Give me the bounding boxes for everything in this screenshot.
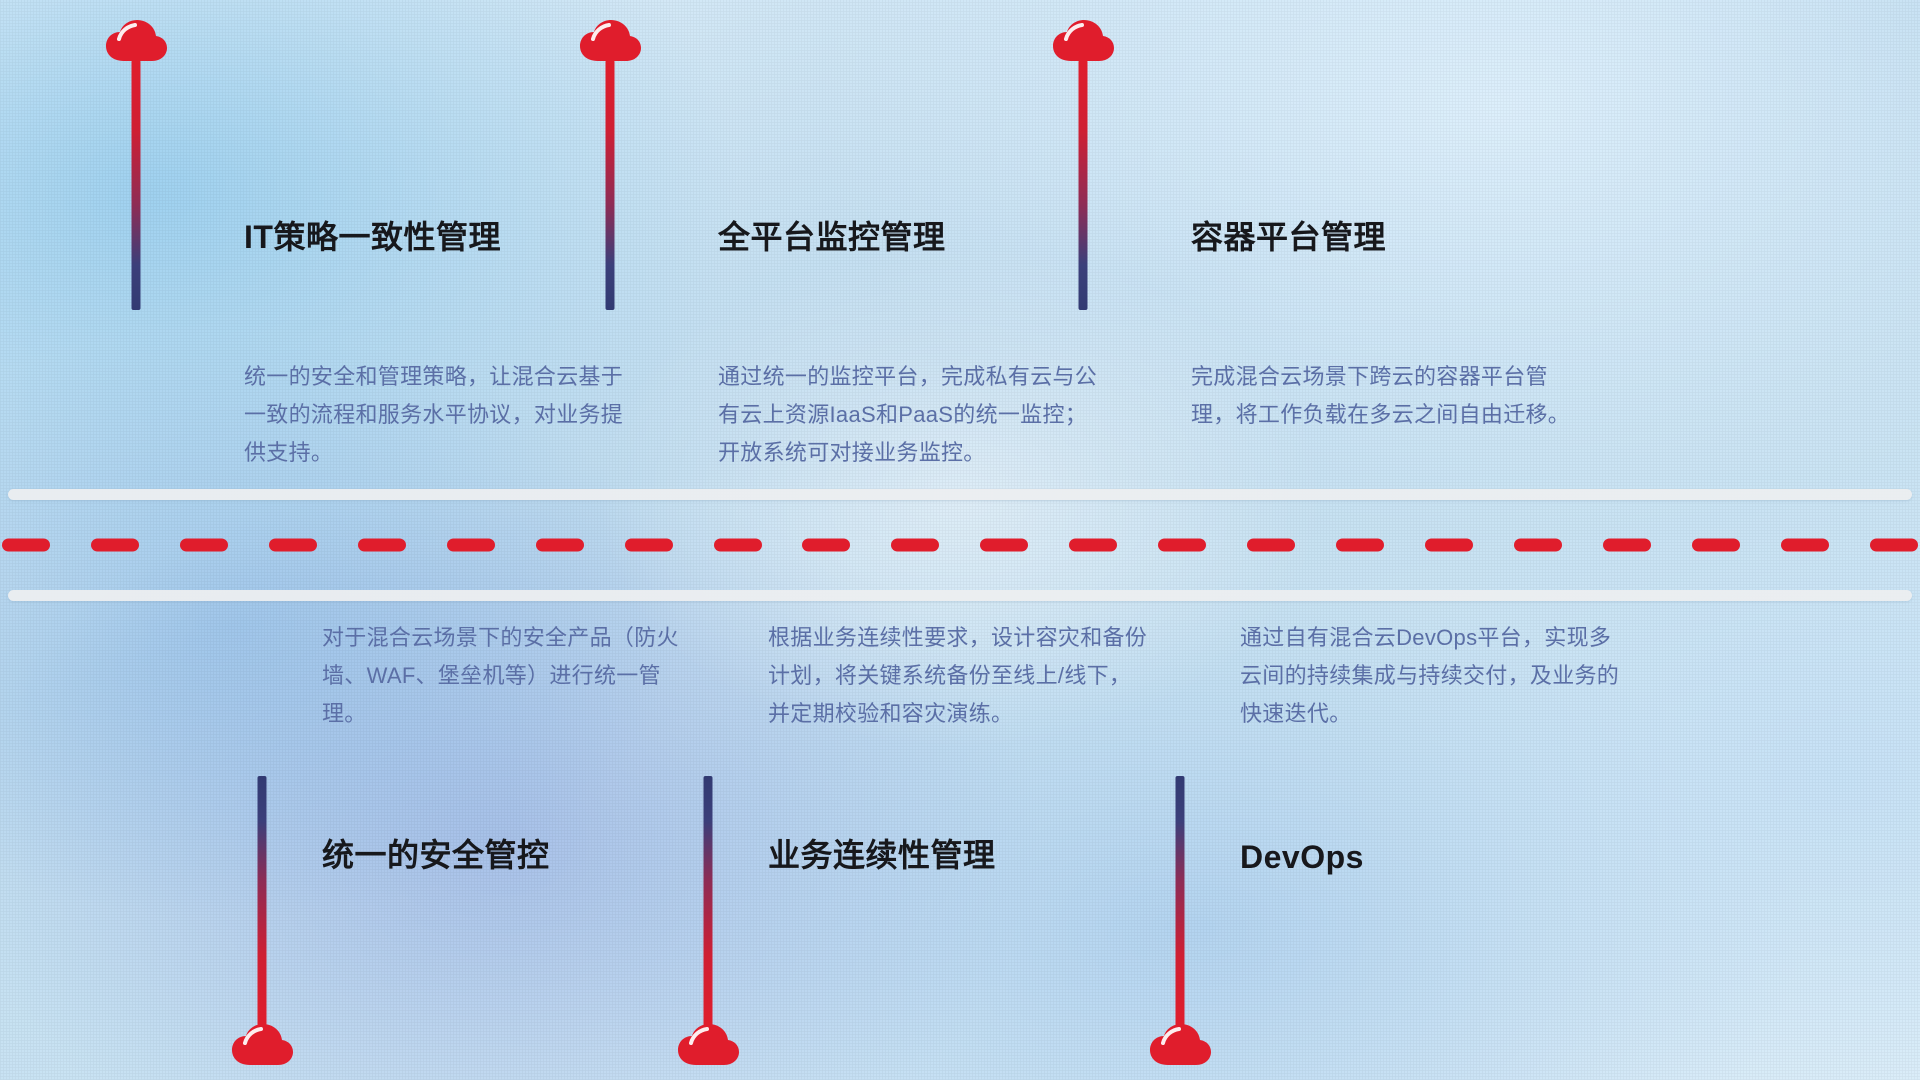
card-title: DevOps xyxy=(1240,839,1364,876)
divider-dash xyxy=(447,539,495,552)
top-row: IT策略一致性管理 统一的安全和管理策略，让混合云基于一致的流程和服务水平协议，… xyxy=(0,0,1920,489)
divider-rail-bottom xyxy=(8,590,1912,601)
divider-band xyxy=(0,489,1920,601)
cloud-pin-3 xyxy=(1051,20,1115,62)
divider-dash xyxy=(1603,539,1651,552)
card-title: IT策略一致性管理 xyxy=(244,212,501,258)
divider-rail-top xyxy=(8,489,1912,500)
divider-dash xyxy=(1247,539,1295,552)
divider-dash xyxy=(1336,539,1384,552)
cloud-icon xyxy=(1051,20,1115,62)
bottom-row: 对于混合云场景下的安全产品（防火墙、WAF、堡垒机等）进行统一管理。 统一的安全… xyxy=(0,601,1920,1080)
pin-stem xyxy=(606,60,615,310)
cloud-icon xyxy=(230,1024,294,1066)
bottom-card-1: 对于混合云场景下的安全产品（防火墙、WAF、堡垒机等）进行统一管理。 统一的安全… xyxy=(222,601,682,1080)
divider-dash xyxy=(1514,539,1562,552)
top-card-3: 容器平台管理 完成混合云场景下跨云的容器平台管理，将工作负载在多云之间自由迁移。 xyxy=(1043,0,1513,489)
pin-stem xyxy=(1176,776,1185,1026)
divider-dash xyxy=(625,539,673,552)
cloud-icon xyxy=(676,1024,740,1066)
card-title: 统一的安全管控 xyxy=(322,830,550,876)
divider-dash xyxy=(91,539,139,552)
divider-dash xyxy=(1781,539,1829,552)
card-body: 通过自有混合云DevOps平台，实现多云间的持续集成与持续交付，及业务的快速迭代… xyxy=(1240,619,1620,733)
divider-dash xyxy=(180,539,228,552)
cloud-pin-2 xyxy=(578,20,642,62)
divider-dash xyxy=(891,539,939,552)
bottom-card-3: 通过自有混合云DevOps平台，实现多云间的持续集成与持续交付，及业务的快速迭代… xyxy=(1140,601,1610,1080)
divider-dash xyxy=(536,539,584,552)
card-body: 根据业务连续性要求，设计容灾和备份计划，将关键系统备份至线上/线下，并定期校验和… xyxy=(768,619,1148,733)
divider-dash xyxy=(714,539,762,552)
card-body: 对于混合云场景下的安全产品（防火墙、WAF、堡垒机等）进行统一管理。 xyxy=(322,619,702,733)
divider-dash xyxy=(1870,539,1918,552)
divider-dash xyxy=(1069,539,1117,552)
pin-stem xyxy=(704,776,713,1026)
card-body: 完成混合云场景下跨云的容器平台管理，将工作负载在多云之间自由迁移。 xyxy=(1191,358,1571,434)
divider-dash xyxy=(1692,539,1740,552)
divider-dash xyxy=(980,539,1028,552)
cloud-icon xyxy=(1148,1024,1212,1066)
divider-dash xyxy=(1425,539,1473,552)
divider-dash xyxy=(1158,539,1206,552)
card-title: 业务连续性管理 xyxy=(768,830,996,876)
card-title: 容器平台管理 xyxy=(1191,212,1386,258)
pin-stem xyxy=(258,776,267,1026)
card-body: 通过统一的监控平台，完成私有云与公有云上资源IaaS和PaaS的统一监控；开放系… xyxy=(718,358,1098,472)
top-card-2: 全平台监控管理 通过统一的监控平台，完成私有云与公有云上资源IaaS和PaaS的… xyxy=(570,0,1040,489)
bottom-card-2: 根据业务连续性要求，设计容灾和备份计划，将关键系统备份至线上/线下，并定期校验和… xyxy=(668,601,1138,1080)
infographic-canvas: IT策略一致性管理 统一的安全和管理策略，让混合云基于一致的流程和服务水平协议，… xyxy=(0,0,1920,1080)
card-body: 统一的安全和管理策略，让混合云基于一致的流程和服务水平协议，对业务提供支持。 xyxy=(244,358,624,472)
top-card-1: IT策略一致性管理 统一的安全和管理策略，让混合云基于一致的流程和服务水平协议，… xyxy=(96,0,556,489)
cloud-icon xyxy=(104,20,168,62)
card-title: 全平台监控管理 xyxy=(718,212,946,258)
cloud-pin-1 xyxy=(104,20,168,62)
pin-stem xyxy=(132,60,141,310)
divider-dashed-line xyxy=(0,539,1920,552)
divider-dash xyxy=(802,539,850,552)
divider-dash xyxy=(2,539,50,552)
pin-stem xyxy=(1079,60,1088,310)
divider-dash xyxy=(358,539,406,552)
divider-dash xyxy=(269,539,317,552)
cloud-icon xyxy=(578,20,642,62)
